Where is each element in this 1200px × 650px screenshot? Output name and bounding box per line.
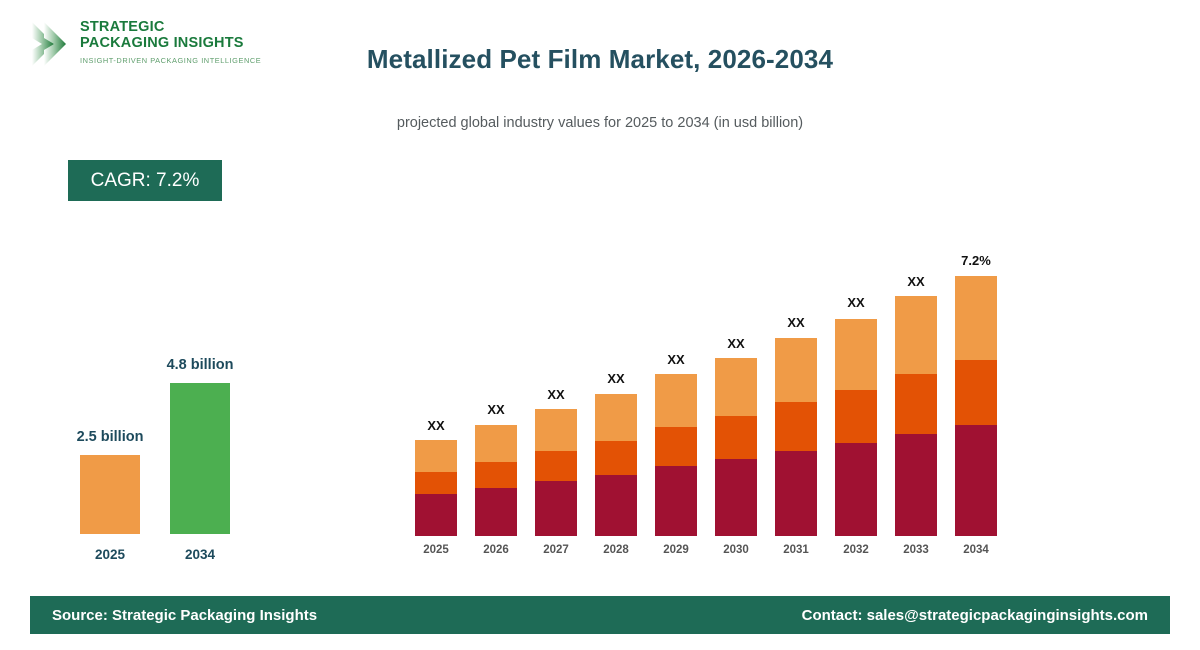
stacked-bar-segment bbox=[415, 494, 457, 536]
comparison-bar bbox=[170, 383, 230, 534]
page-subtitle: projected global industry values for 202… bbox=[0, 115, 1200, 131]
page-title: Metallized Pet Film Market, 2026-2034 bbox=[0, 44, 1200, 75]
stacked-bar bbox=[415, 440, 457, 536]
stacked-bar-segment bbox=[715, 416, 757, 459]
stacked-bar-segment bbox=[715, 459, 757, 536]
stacked-bar-segment bbox=[415, 440, 457, 472]
stacked-bar-segment bbox=[715, 358, 757, 416]
stacked-bar-segment bbox=[775, 451, 817, 536]
stacked-bar bbox=[775, 338, 817, 536]
stacked-bar-top-label: XX bbox=[511, 387, 601, 402]
stacked-bar-segment bbox=[955, 425, 997, 536]
stacked-bar-segment bbox=[535, 451, 577, 481]
stacked-year-label: 2034 bbox=[931, 544, 1021, 556]
stacked-bar-segment bbox=[595, 475, 637, 536]
stacked-bar-top-label: XX bbox=[871, 274, 961, 289]
stacked-bar-segment bbox=[895, 374, 937, 434]
stacked-bar-top-label: XX bbox=[691, 336, 781, 351]
footer-source-text: Source: Strategic Packaging Insights bbox=[52, 607, 317, 624]
brand-name-line-1: STRATEGIC bbox=[80, 20, 261, 36]
stacked-bar-segment bbox=[475, 462, 517, 488]
stacked-bar bbox=[955, 276, 997, 536]
stacked-bar-segment bbox=[655, 427, 697, 466]
comparison-year-label: 2034 bbox=[140, 547, 260, 562]
stacked-bar-segment bbox=[655, 466, 697, 536]
stacked-bar-top-label: XX bbox=[451, 402, 541, 417]
stacked-bar-segment bbox=[895, 434, 937, 536]
comparison-bar-value-label: 4.8 billion bbox=[120, 357, 280, 373]
stacked-bar-segment bbox=[475, 488, 517, 536]
stacked-bar-segment bbox=[775, 338, 817, 402]
segmented-forecast-stacked-chart: XX2025XX2026XX2027XX2028XX2029XX2030XX20… bbox=[400, 190, 1020, 560]
market-size-comparison-chart: 2.5 billion20254.8 billion2034 bbox=[60, 310, 290, 570]
stacked-bar-top-label: 7.2% bbox=[931, 253, 1021, 268]
stacked-bar-segment bbox=[835, 390, 877, 443]
stacked-bar-segment bbox=[775, 402, 817, 451]
stacked-bar-top-label: XX bbox=[571, 371, 661, 386]
stacked-bar bbox=[715, 358, 757, 536]
stacked-bar bbox=[535, 409, 577, 536]
stacked-bar-segment bbox=[595, 441, 637, 475]
stacked-bar-segment bbox=[895, 296, 937, 374]
stacked-bar bbox=[895, 296, 937, 536]
stacked-bar-segment bbox=[535, 481, 577, 536]
stacked-bar bbox=[475, 425, 517, 536]
stacked-bar-top-label: XX bbox=[631, 352, 721, 367]
footer-bar: Source: Strategic Packaging Insights Con… bbox=[30, 596, 1170, 634]
stacked-bar bbox=[655, 374, 697, 536]
stacked-bar-top-label: XX bbox=[391, 418, 481, 433]
stacked-bar-top-label: XX bbox=[751, 315, 841, 330]
stacked-bar-segment bbox=[475, 425, 517, 462]
stacked-bar bbox=[595, 394, 637, 536]
stacked-bar bbox=[835, 319, 877, 536]
stacked-bar-segment bbox=[835, 319, 877, 390]
footer-contact-text: Contact: sales@strategicpackaginginsight… bbox=[802, 607, 1148, 624]
chart-page: STRATEGIC PACKAGING INSIGHTS INSIGHT-DRI… bbox=[0, 0, 1200, 650]
stacked-bar-top-label: XX bbox=[811, 295, 901, 310]
stacked-bar-segment bbox=[955, 276, 997, 360]
stacked-bar-segment bbox=[535, 409, 577, 451]
cagr-badge: CAGR: 7.2% bbox=[68, 160, 222, 201]
stacked-bar-segment bbox=[955, 360, 997, 425]
stacked-bar-segment bbox=[595, 394, 637, 441]
comparison-bar bbox=[80, 455, 140, 534]
stacked-bar-segment bbox=[415, 472, 457, 494]
stacked-bar-segment bbox=[835, 443, 877, 536]
stacked-bar-segment bbox=[655, 374, 697, 427]
comparison-bar-value-label: 2.5 billion bbox=[30, 429, 190, 445]
